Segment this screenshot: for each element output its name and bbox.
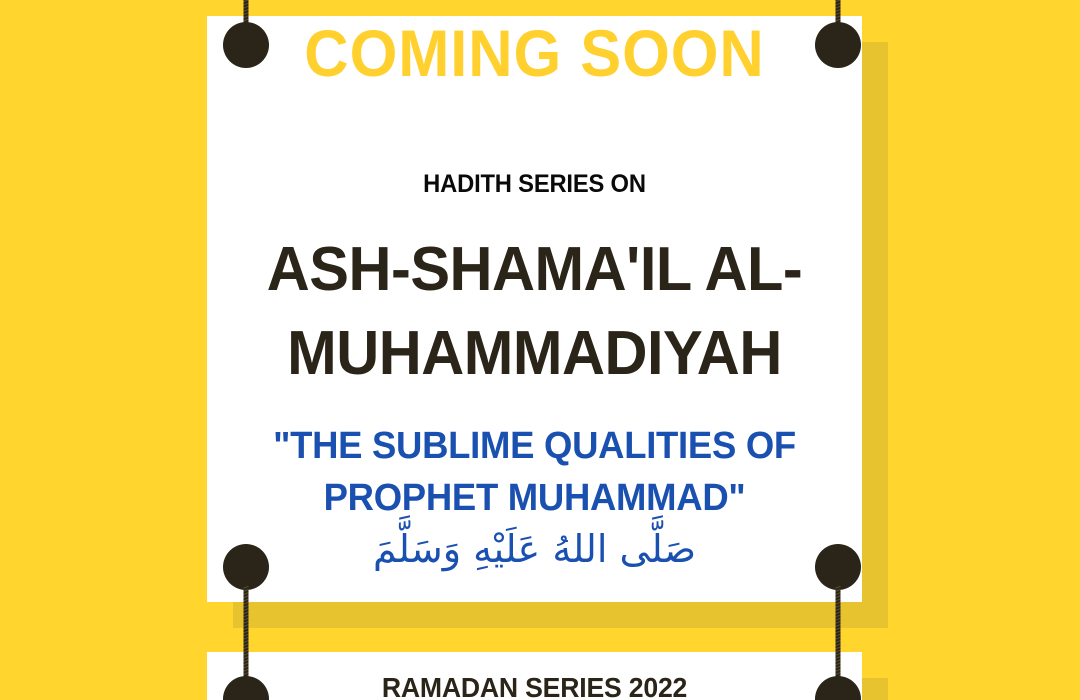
ramadan-series-caption: RAMADAN SERIES 2022 [223,672,845,700]
salawat-arabic-text: صَلَّى اللهُ عَلَيْهِ وَسَلَّمَ [207,521,862,578]
series-eyebrow-label: HADITH SERIES ON [223,170,845,199]
poster-canvas: COMING SOON HADITH SERIES ON ASH-SHAMA'I… [0,0,1080,700]
series-subtitle: "THE SUBLIME QUALITIES OF PROPHET MUHAMM… [235,420,835,525]
coming-soon-banner: COMING SOON [230,20,839,86]
series-title: ASH-SHAMA'IL AL-MUHAMMADIYAH [230,228,840,397]
